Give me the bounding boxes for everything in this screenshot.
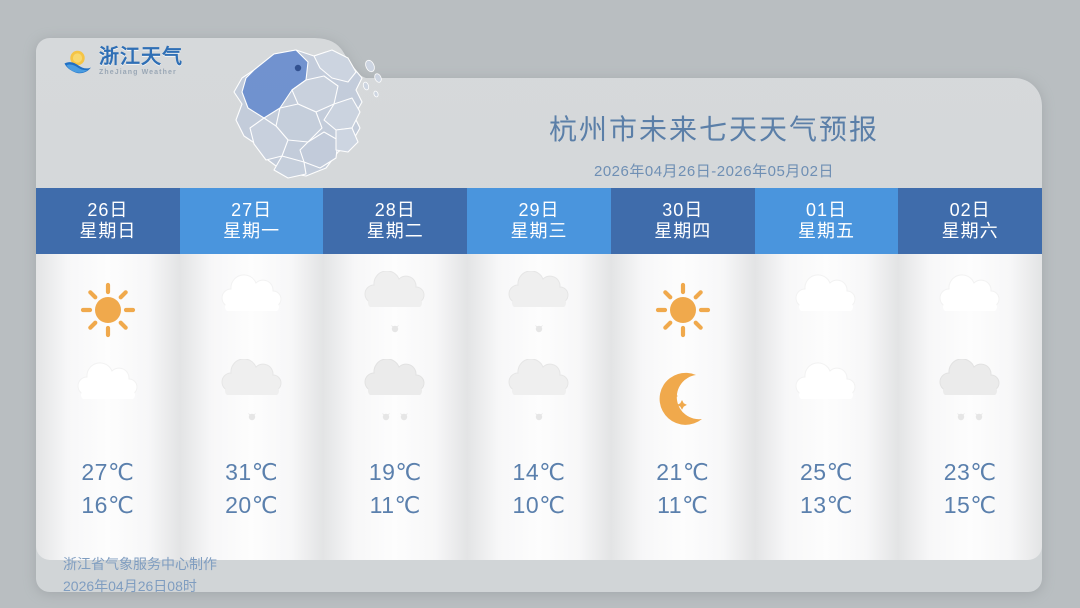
title-block: 杭州市未来七天天气预报 2026年04月26日-2026年05月02日	[386, 108, 1042, 181]
forecast-table: 26日 星期日 27℃ 16℃27日 星期一 31℃ 20℃28日 星期二	[36, 188, 1042, 560]
forecast-column[interactable]: 29日 星期三 14℃ 10℃	[467, 188, 611, 560]
column-date: 02日	[950, 200, 991, 221]
temperature-range: 31℃ 20℃	[225, 456, 278, 521]
footer-issued-time: 2026年04月26日08时	[63, 576, 217, 598]
column-header: 29日 星期三	[467, 188, 611, 254]
column-weekday: 星期三	[511, 221, 568, 242]
forecast-column[interactable]: 28日 星期二 19℃ 11℃	[323, 188, 467, 560]
column-date: 27日	[231, 200, 272, 221]
cloudy-icon	[898, 262, 1042, 358]
forecast-column[interactable]: 27日 星期一 31℃ 20℃	[180, 188, 324, 560]
light-rain-icon	[180, 350, 324, 446]
temperature-range: 23℃ 15℃	[944, 456, 997, 521]
low-temperature: 11℃	[369, 489, 422, 522]
column-body: 21℃ 11℃	[611, 254, 755, 560]
forecast-column[interactable]: 26日 星期日 27℃ 16℃	[36, 188, 180, 560]
column-header: 27日 星期一	[180, 188, 324, 254]
low-temperature: 11℃	[656, 489, 709, 522]
card-footer: 浙江省气象服务中心制作 2026年04月26日08时	[63, 554, 217, 597]
cloudy-icon	[36, 350, 180, 446]
column-body: 27℃ 16℃	[36, 254, 180, 560]
column-header: 26日 星期日	[36, 188, 180, 254]
forecast-column[interactable]: 02日 星期六 23℃ 15℃	[898, 188, 1042, 560]
column-body: 25℃ 13℃	[755, 254, 899, 560]
high-temperature: 27℃	[81, 456, 134, 489]
light-rain-icon	[467, 350, 611, 446]
column-header: 30日 星期四	[611, 188, 755, 254]
moderate-rain-icon	[898, 350, 1042, 446]
low-temperature: 10℃	[513, 489, 566, 522]
footer-producer: 浙江省气象服务中心制作	[63, 554, 217, 576]
cloudy-icon	[755, 350, 899, 446]
column-weekday: 星期一	[223, 221, 280, 242]
moderate-rain-icon	[323, 350, 467, 446]
forecast-column[interactable]: 01日 星期五 25℃ 13℃	[755, 188, 899, 560]
low-temperature: 20℃	[225, 489, 278, 522]
low-temperature: 15℃	[944, 489, 997, 522]
column-weekday: 星期日	[79, 221, 136, 242]
high-temperature: 21℃	[656, 456, 709, 489]
column-body: 19℃ 11℃	[323, 254, 467, 560]
temperature-range: 25℃ 13℃	[800, 456, 853, 521]
column-weekday: 星期五	[798, 221, 855, 242]
high-temperature: 31℃	[225, 456, 278, 489]
column-date: 28日	[375, 200, 416, 221]
sun-over-wave-icon	[63, 47, 92, 76]
high-temperature: 25℃	[800, 456, 853, 489]
column-weekday: 星期二	[367, 221, 424, 242]
light-rain-icon	[323, 262, 467, 358]
light-rain-icon	[467, 262, 611, 358]
temperature-range: 21℃ 11℃	[656, 456, 709, 521]
column-header: 01日 星期五	[755, 188, 899, 254]
cloudy-icon	[180, 262, 324, 358]
column-body: 31℃ 20℃	[180, 254, 324, 560]
column-date: 26日	[87, 200, 128, 221]
column-header: 02日 星期六	[898, 188, 1042, 254]
temperature-range: 19℃ 11℃	[369, 456, 422, 521]
column-date: 29日	[519, 200, 560, 221]
temperature-range: 14℃ 10℃	[513, 456, 566, 521]
column-weekday: 星期四	[654, 221, 711, 242]
column-date: 01日	[806, 200, 847, 221]
sunny-icon	[36, 262, 180, 358]
page-title: 杭州市未来七天天气预报	[386, 108, 1042, 148]
high-temperature: 14℃	[513, 456, 566, 489]
high-temperature: 19℃	[369, 456, 422, 489]
cloudy-icon	[755, 262, 899, 358]
sunny-icon	[611, 262, 755, 358]
column-body: 23℃ 15℃	[898, 254, 1042, 560]
temperature-range: 27℃ 16℃	[81, 456, 134, 521]
forecast-column[interactable]: 30日 星期四 21℃ 11℃	[611, 188, 755, 560]
low-temperature: 16℃	[81, 489, 134, 522]
column-body: 14℃ 10℃	[467, 254, 611, 560]
high-temperature: 23℃	[944, 456, 997, 489]
column-header: 28日 星期二	[323, 188, 467, 254]
forecast-card: 浙江天气 ZheJiang Weather	[36, 30, 1042, 592]
card-header: 浙江天气 ZheJiang Weather	[36, 30, 1042, 188]
date-range-subtitle: 2026年04月26日-2026年05月02日	[386, 160, 1042, 181]
zhejiang-province-map	[156, 32, 396, 192]
clear-night-icon	[611, 350, 755, 446]
column-date: 30日	[662, 200, 703, 221]
column-weekday: 星期六	[942, 221, 999, 242]
low-temperature: 13℃	[800, 489, 853, 522]
